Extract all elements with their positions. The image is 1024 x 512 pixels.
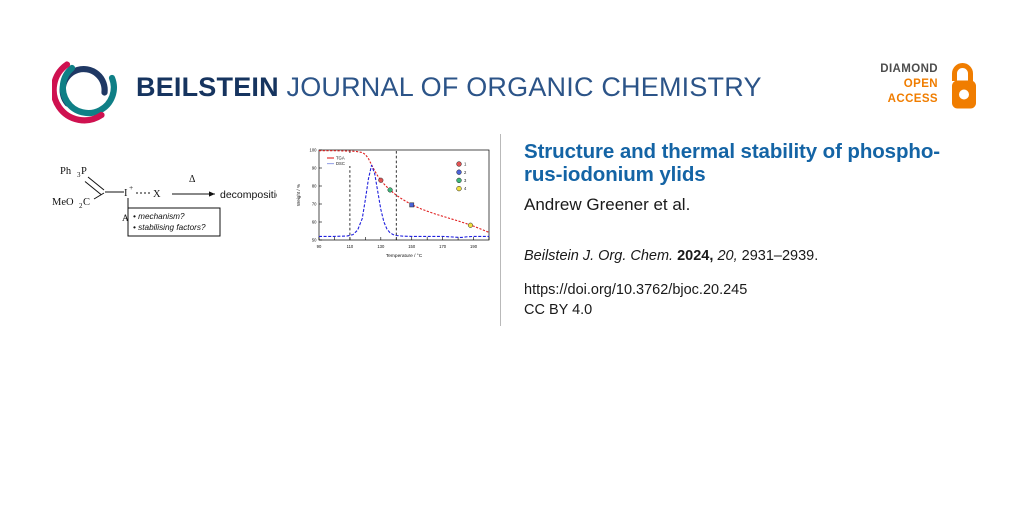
svg-text:130: 130 bbox=[377, 244, 385, 249]
svg-text:100: 100 bbox=[310, 148, 318, 153]
graphical-abstract: Ph 3 P MeO 2 C I + bbox=[40, 134, 480, 274]
open-padlock-icon bbox=[946, 60, 978, 112]
oa-line-open: OPEN bbox=[866, 77, 938, 92]
svg-text:TGA: TGA bbox=[336, 156, 345, 161]
beilstein-spiral-logo bbox=[52, 54, 122, 124]
svg-text:+: + bbox=[129, 183, 133, 192]
svg-text:MeO: MeO bbox=[52, 197, 74, 208]
svg-text:50: 50 bbox=[312, 238, 317, 243]
svg-text:Weight / %: Weight / % bbox=[296, 184, 301, 206]
svg-text:Temperature / °C: Temperature / °C bbox=[386, 253, 423, 259]
article-citation: Beilstein J. Org. Chem. 2024, 20, 2931–2… bbox=[524, 247, 972, 266]
svg-text:Δ: Δ bbox=[189, 174, 196, 185]
svg-text:90: 90 bbox=[317, 244, 322, 249]
article-title-line2: rus-iodonium ylids bbox=[524, 163, 706, 186]
svg-text:170: 170 bbox=[439, 244, 447, 249]
article-title-line1: Structure and thermal stability of phosp… bbox=[524, 140, 940, 163]
oa-line-access: ACCESS bbox=[866, 92, 938, 107]
svg-text:P: P bbox=[81, 166, 87, 177]
page-header: BEILSTEIN JOURNAL OF ORGANIC CHEMISTRY D… bbox=[0, 0, 1024, 140]
article-license: CC BY 4.0 bbox=[524, 300, 972, 320]
article-cover-page: BEILSTEIN JOURNAL OF ORGANIC CHEMISTRY D… bbox=[0, 0, 1024, 512]
svg-text:80: 80 bbox=[312, 184, 317, 189]
oa-line-diamond: DIAMOND bbox=[866, 62, 938, 77]
svg-text:DSC: DSC bbox=[336, 161, 345, 166]
svg-text:90: 90 bbox=[312, 166, 317, 171]
svg-text:190: 190 bbox=[470, 244, 478, 249]
article-doi-link[interactable]: https://doi.org/10.3762/bjoc.20.245 bbox=[524, 280, 972, 300]
svg-text:I: I bbox=[124, 188, 128, 199]
article-authors: Andrew Greener et al. bbox=[524, 195, 972, 215]
scheme-label-ph3p: Ph bbox=[60, 166, 72, 177]
reaction-scheme: Ph 3 P MeO 2 C I + bbox=[52, 152, 277, 240]
citation-pages: 2931–2939. bbox=[742, 248, 819, 264]
svg-text:• stabilising factors?: • stabilising factors? bbox=[133, 223, 206, 232]
open-access-words: DIAMOND OPEN ACCESS bbox=[866, 62, 938, 107]
svg-text:• mechanism?: • mechanism? bbox=[133, 212, 185, 221]
svg-text:60: 60 bbox=[312, 220, 317, 225]
citation-volume: 20, bbox=[717, 248, 737, 264]
diamond-open-access-badge: DIAMOND OPEN ACCESS bbox=[866, 58, 978, 122]
svg-text:X: X bbox=[153, 189, 161, 200]
citation-year: 2024, bbox=[677, 248, 713, 264]
tga-dsc-chart: 90110130150170190Temperature / °C5060708… bbox=[293, 140, 505, 268]
svg-text:150: 150 bbox=[408, 244, 416, 249]
svg-text:decomposition: decomposition bbox=[220, 189, 277, 201]
svg-text:110: 110 bbox=[347, 244, 354, 249]
svg-text:C: C bbox=[83, 197, 90, 208]
journal-title: BEILSTEIN JOURNAL OF ORGANIC CHEMISTRY bbox=[136, 72, 762, 103]
journal-title-rest: JOURNAL OF ORGANIC CHEMISTRY bbox=[279, 72, 762, 102]
svg-text:70: 70 bbox=[312, 202, 317, 207]
article-info: Structure and thermal stability of phosp… bbox=[524, 140, 972, 320]
citation-journal: Beilstein J. Org. Chem. bbox=[524, 248, 673, 264]
article-title[interactable]: Structure and thermal stability of phosp… bbox=[524, 140, 972, 186]
journal-title-bold: BEILSTEIN bbox=[136, 72, 279, 102]
